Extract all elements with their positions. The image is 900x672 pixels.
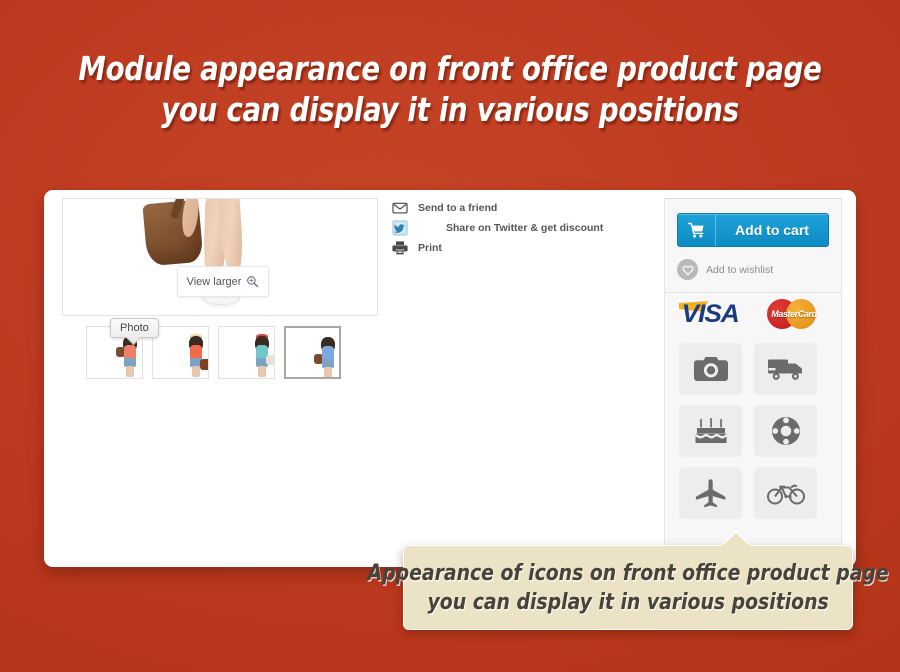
thumb-legs-shape	[192, 366, 200, 377]
print-label: Print	[418, 242, 442, 254]
airplane-icon-tile[interactable]	[679, 467, 742, 519]
product-page-card: View larger	[44, 190, 856, 567]
callout-box: Appearance of icons on front office prod…	[403, 545, 853, 630]
delivery-truck-icon	[768, 356, 804, 382]
life-ring-icon-tile[interactable]	[754, 405, 817, 457]
view-larger-button[interactable]: View larger	[177, 266, 269, 297]
send-to-friend-link[interactable]: Send to a friend	[392, 198, 660, 218]
product-social-links: Send to a friend Share on Twitter & get …	[392, 198, 660, 258]
mastercard-logo-text: MasterCard	[768, 309, 820, 319]
camera-icon	[694, 355, 728, 383]
product-thumbnail-2[interactable]	[152, 326, 209, 379]
thumb-bag-shape	[266, 355, 275, 365]
callout-line-2: you can display it in various positions	[367, 588, 888, 617]
print-link[interactable]: Print	[392, 238, 660, 258]
thumb-legs-shape	[258, 366, 266, 377]
payment-logos: VISA MasterCard	[665, 293, 841, 333]
callout-line-1: Appearance of icons on front office prod…	[367, 559, 888, 588]
bicycle-icon-tile[interactable]	[754, 467, 817, 519]
birthday-cake-icon	[695, 416, 727, 446]
magnifier-icon	[246, 275, 259, 288]
page-title-line-2: you can display it in various positions	[32, 89, 869, 130]
callout-text: Appearance of icons on front office prod…	[367, 559, 888, 617]
thumb-legs-shape	[324, 367, 332, 378]
page-title-line-1: Module appearance on front office produc…	[32, 48, 869, 89]
add-to-cart-button[interactable]: Add to cart	[677, 213, 829, 247]
add-to-wishlist-label: Add to wishlist	[706, 264, 773, 276]
feature-icon-grid	[665, 333, 841, 519]
bicycle-icon	[767, 481, 805, 505]
birthday-cake-icon-tile[interactable]	[679, 405, 742, 457]
visa-logo: VISA	[677, 299, 763, 329]
send-to-friend-label: Send to a friend	[418, 202, 497, 214]
camera-icon-tile[interactable]	[679, 343, 742, 395]
printer-icon	[392, 240, 408, 256]
view-larger-label: View larger	[187, 276, 242, 288]
product-thumbnail-3[interactable]	[218, 326, 275, 379]
twitter-icon	[392, 220, 408, 236]
heart-icon	[682, 264, 694, 276]
thumb-bag-shape	[200, 359, 210, 370]
delivery-truck-icon-tile[interactable]	[754, 343, 817, 395]
add-to-cart-icon-wrap	[678, 214, 716, 246]
visa-logo-text: VISA	[682, 300, 739, 329]
product-buy-panel: Add to cart Add to wishlist VISA	[664, 198, 842, 559]
photo-tooltip-label: Photo	[120, 322, 149, 334]
buy-panel-top: Add to cart Add to wishlist	[665, 199, 841, 293]
shopping-cart-icon	[688, 222, 705, 239]
mastercard-logo: MasterCard	[767, 297, 829, 331]
product-image-column: View larger	[62, 198, 380, 379]
add-to-cart-label: Add to cart	[716, 222, 828, 238]
page-title: Module appearance on front office produc…	[32, 48, 869, 130]
photo-tooltip: Photo	[110, 318, 159, 338]
wishlist-icon-circle	[677, 259, 698, 280]
life-ring-icon	[771, 416, 801, 446]
add-to-wishlist-button[interactable]: Add to wishlist	[665, 259, 841, 293]
product-thumbnail-4[interactable]	[284, 326, 341, 379]
thumb-legs-shape	[126, 366, 134, 377]
share-on-twitter-link[interactable]: Share on Twitter & get discount	[392, 218, 660, 238]
page-background: Module appearance on front office produc…	[0, 0, 900, 672]
share-on-twitter-label: Share on Twitter & get discount	[446, 222, 603, 234]
airplane-icon	[695, 478, 727, 508]
product-main-image[interactable]: View larger	[62, 198, 378, 316]
envelope-icon	[392, 200, 408, 216]
